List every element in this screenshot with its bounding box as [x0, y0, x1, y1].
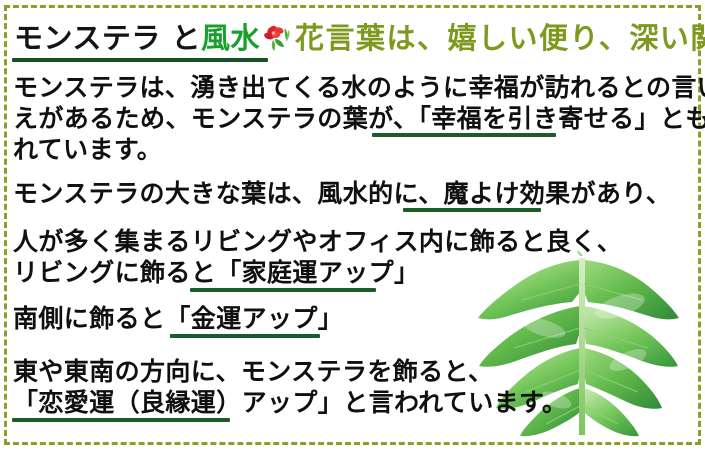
paragraph-1-line-1: モンステラは、湧き出てくる水のように幸福が訪れるとの言い伝: [13, 74, 705, 102]
paragraph-3-line-2: リビングに飾ると「家庭運アップ」: [13, 259, 419, 287]
page-title: モンステラ と 風水: [14, 18, 705, 58]
paragraph-3-line-1: 人が多く集まるリビングやオフィス内に飾ると良く、: [13, 228, 622, 256]
paragraph-1-line-3: れています。: [13, 136, 162, 164]
infographic-canvas: モンステラ と 風水: [0, 0, 705, 450]
paragraph-5-line-2: 「恋愛運（良縁運）アップ」と言われています。: [13, 389, 567, 417]
title-part-olive: 花言葉は、嬉しい便り、深い関係: [295, 21, 705, 55]
emphasis-underline-1: [372, 133, 556, 137]
title-part-black: モンステラ と: [14, 21, 201, 55]
emphasis-underline-2: [403, 208, 541, 212]
emphasis-underline-4: [170, 334, 320, 338]
red-petals: [263, 24, 284, 40]
flower-ornament-icon: [263, 23, 293, 53]
paragraph-1-line-2: えがあるため、モンステラの葉が、「幸福を引き寄せる」ともいわ: [13, 105, 705, 133]
title-part-green: 風水: [201, 21, 260, 55]
paragraph-5-line-1: 東や東南の方向に、モンステラを飾ると、: [13, 358, 493, 386]
emphasis-underline-5: [12, 418, 230, 422]
title-underline: [12, 58, 268, 62]
paragraph-2-line-1: モンステラの大きな葉は、風水的に、魔よけ効果があり、: [13, 180, 671, 208]
paragraph-4-line-1: 南側に飾ると「金運アップ」: [13, 305, 343, 333]
emphasis-underline-3: [190, 288, 376, 292]
text-layer: モンステラ と 風水: [0, 0, 705, 450]
